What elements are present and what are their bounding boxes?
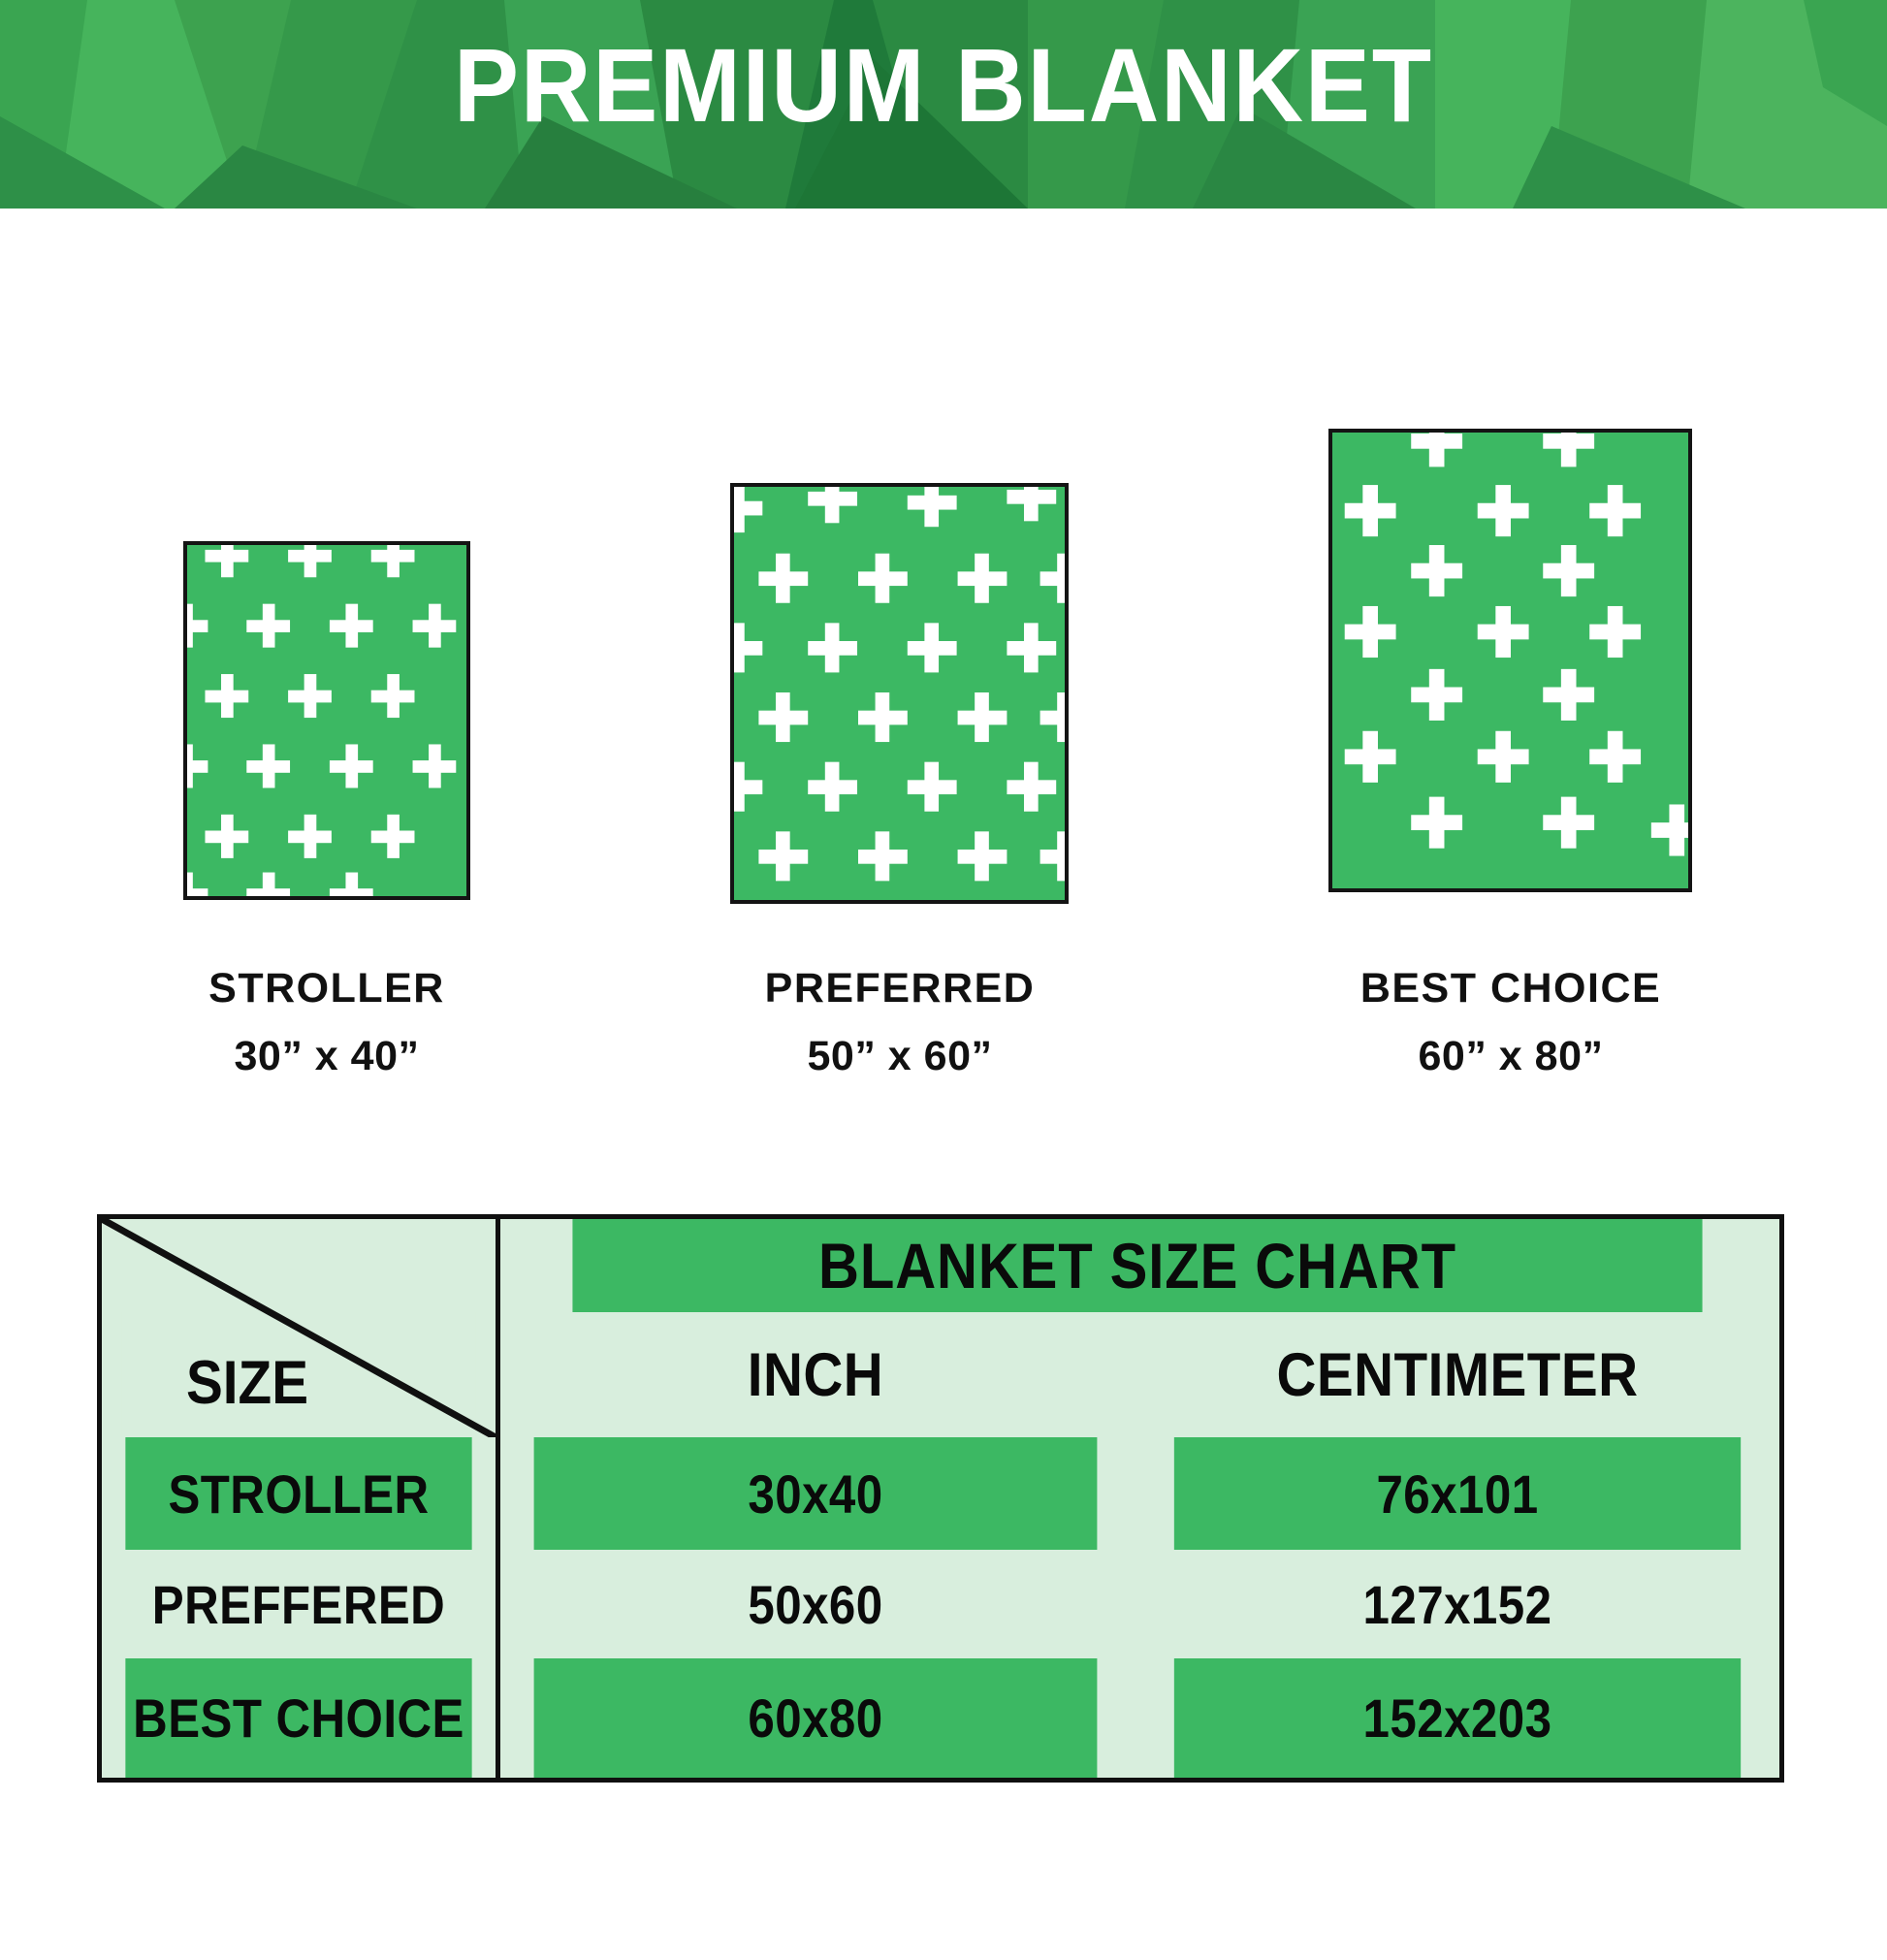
swatch-dimensions-stroller: 30” x 40”: [38, 1033, 616, 1079]
table-title: BLANKET SIZE CHART: [572, 1219, 1702, 1312]
row-centimeter-preffered: 127x152: [1174, 1550, 1741, 1658]
row-label-preffered: PREFFERED: [125, 1550, 471, 1658]
table-column-divider: [496, 1219, 500, 1778]
row-inch-preffered: 50x60: [534, 1550, 1098, 1658]
blanket-size-chart-table: BLANKET SIZE CHART INCH CENTIMETER STROL…: [97, 1214, 1784, 1783]
blanket-swatch-preferred: [730, 483, 1069, 904]
row-label-best-choice: BEST CHOICE: [125, 1658, 471, 1778]
swatch-dimensions-best-choice: 60” x 80”: [1222, 1033, 1800, 1079]
page-title: PREMIUM BLANKET: [66, 27, 1821, 144]
row-label-stroller: STROLLER: [125, 1437, 471, 1550]
column-header-inch: INCH: [528, 1312, 1103, 1437]
table-row: STROLLER 30x40 76x101: [102, 1437, 1779, 1550]
swatch-label-stroller: STROLLER: [38, 965, 616, 1012]
blanket-swatch-stroller: [183, 541, 470, 900]
row-centimeter-stroller: 76x101: [1174, 1437, 1741, 1550]
swatch-label-best-choice: BEST CHOICE: [1222, 965, 1800, 1012]
plus-pattern-icon: [734, 487, 1065, 900]
row-inch-best-choice: 60x80: [534, 1658, 1098, 1778]
plus-pattern-icon: [1332, 433, 1688, 888]
swatch-label-preferred: PREFERRED: [611, 965, 1189, 1012]
header-banner: PREMIUM BLANKET: [0, 0, 1887, 209]
row-centimeter-best-choice: 152x203: [1174, 1658, 1741, 1778]
corner-label-size: SIZE: [116, 1339, 378, 1427]
table-row: PREFFERED 50x60 127x152: [102, 1550, 1779, 1658]
plus-pattern-icon: [187, 545, 466, 896]
blanket-swatch-best-choice: [1328, 429, 1692, 892]
swatch-dimensions-preferred: 50” x 60”: [611, 1033, 1189, 1079]
table-row: BEST CHOICE 60x80 152x203: [102, 1658, 1779, 1778]
column-header-centimeter: CENTIMETER: [1167, 1312, 1747, 1437]
row-inch-stroller: 30x40: [534, 1437, 1098, 1550]
